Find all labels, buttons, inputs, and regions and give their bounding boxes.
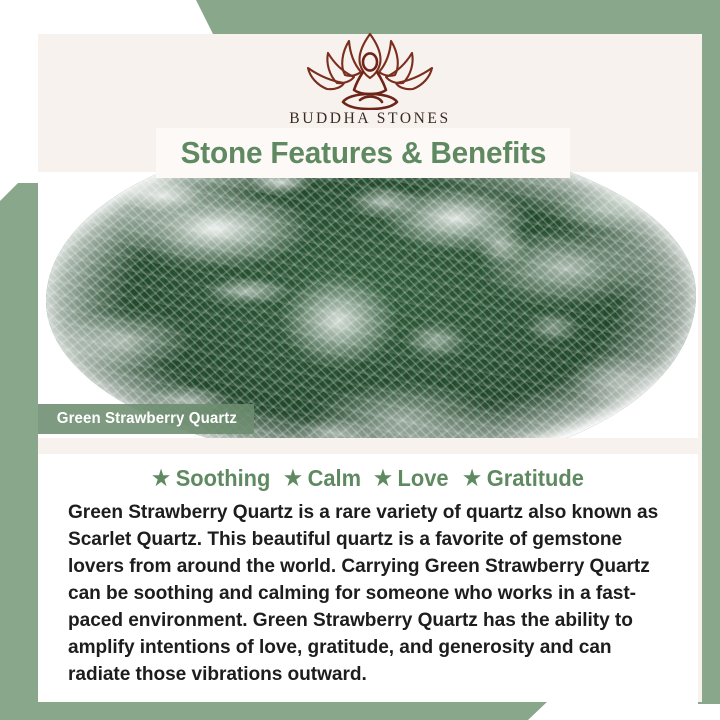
benefits-row: ★ Soothing ★ Calm ★ Love ★ Gratitude — [38, 465, 698, 492]
content-panel: ★ Soothing ★ Calm ★ Love ★ Gratitude Gre… — [38, 454, 698, 702]
star-icon: ★ — [284, 468, 302, 489]
benefit-item-soothing: ★ Soothing — [152, 465, 270, 492]
star-icon: ★ — [374, 468, 392, 489]
brand-header: BUDDHA STONES — [38, 34, 702, 134]
frame-bottom-accent — [0, 701, 548, 720]
title-banner: Stone Features & Benefits — [156, 128, 570, 178]
photo-caption-bar: Green Strawberry Quartz — [38, 404, 254, 434]
stone-image — [46, 172, 696, 438]
benefit-label: Gratitude — [487, 465, 584, 492]
benefit-item-calm: ★ Calm — [284, 465, 361, 492]
brand-name: BUDDHA STONES — [289, 111, 450, 127]
star-icon: ★ — [152, 468, 170, 489]
stone-edge-highlight — [46, 172, 696, 438]
benefit-label: Calm — [308, 465, 361, 492]
frame-left-accent — [0, 183, 40, 720]
benefit-item-love: ★ Love — [374, 465, 449, 492]
benefit-label: Love — [398, 465, 449, 492]
lotus-meditation-icon — [296, 28, 444, 110]
photo-caption-label: Green Strawberry Quartz — [57, 410, 237, 428]
page-title: Stone Features & Benefits — [180, 135, 546, 171]
benefit-item-gratitude: ★ Gratitude — [463, 465, 584, 492]
description-text: Green Strawberry Quartz is a rare variet… — [68, 499, 659, 688]
stone-features-infographic-card: BUDDHA STONES Green Strawberry Quartz St… — [0, 0, 720, 720]
star-icon: ★ — [463, 468, 481, 489]
benefit-label: Soothing — [176, 465, 271, 492]
stone-photo — [38, 172, 698, 438]
